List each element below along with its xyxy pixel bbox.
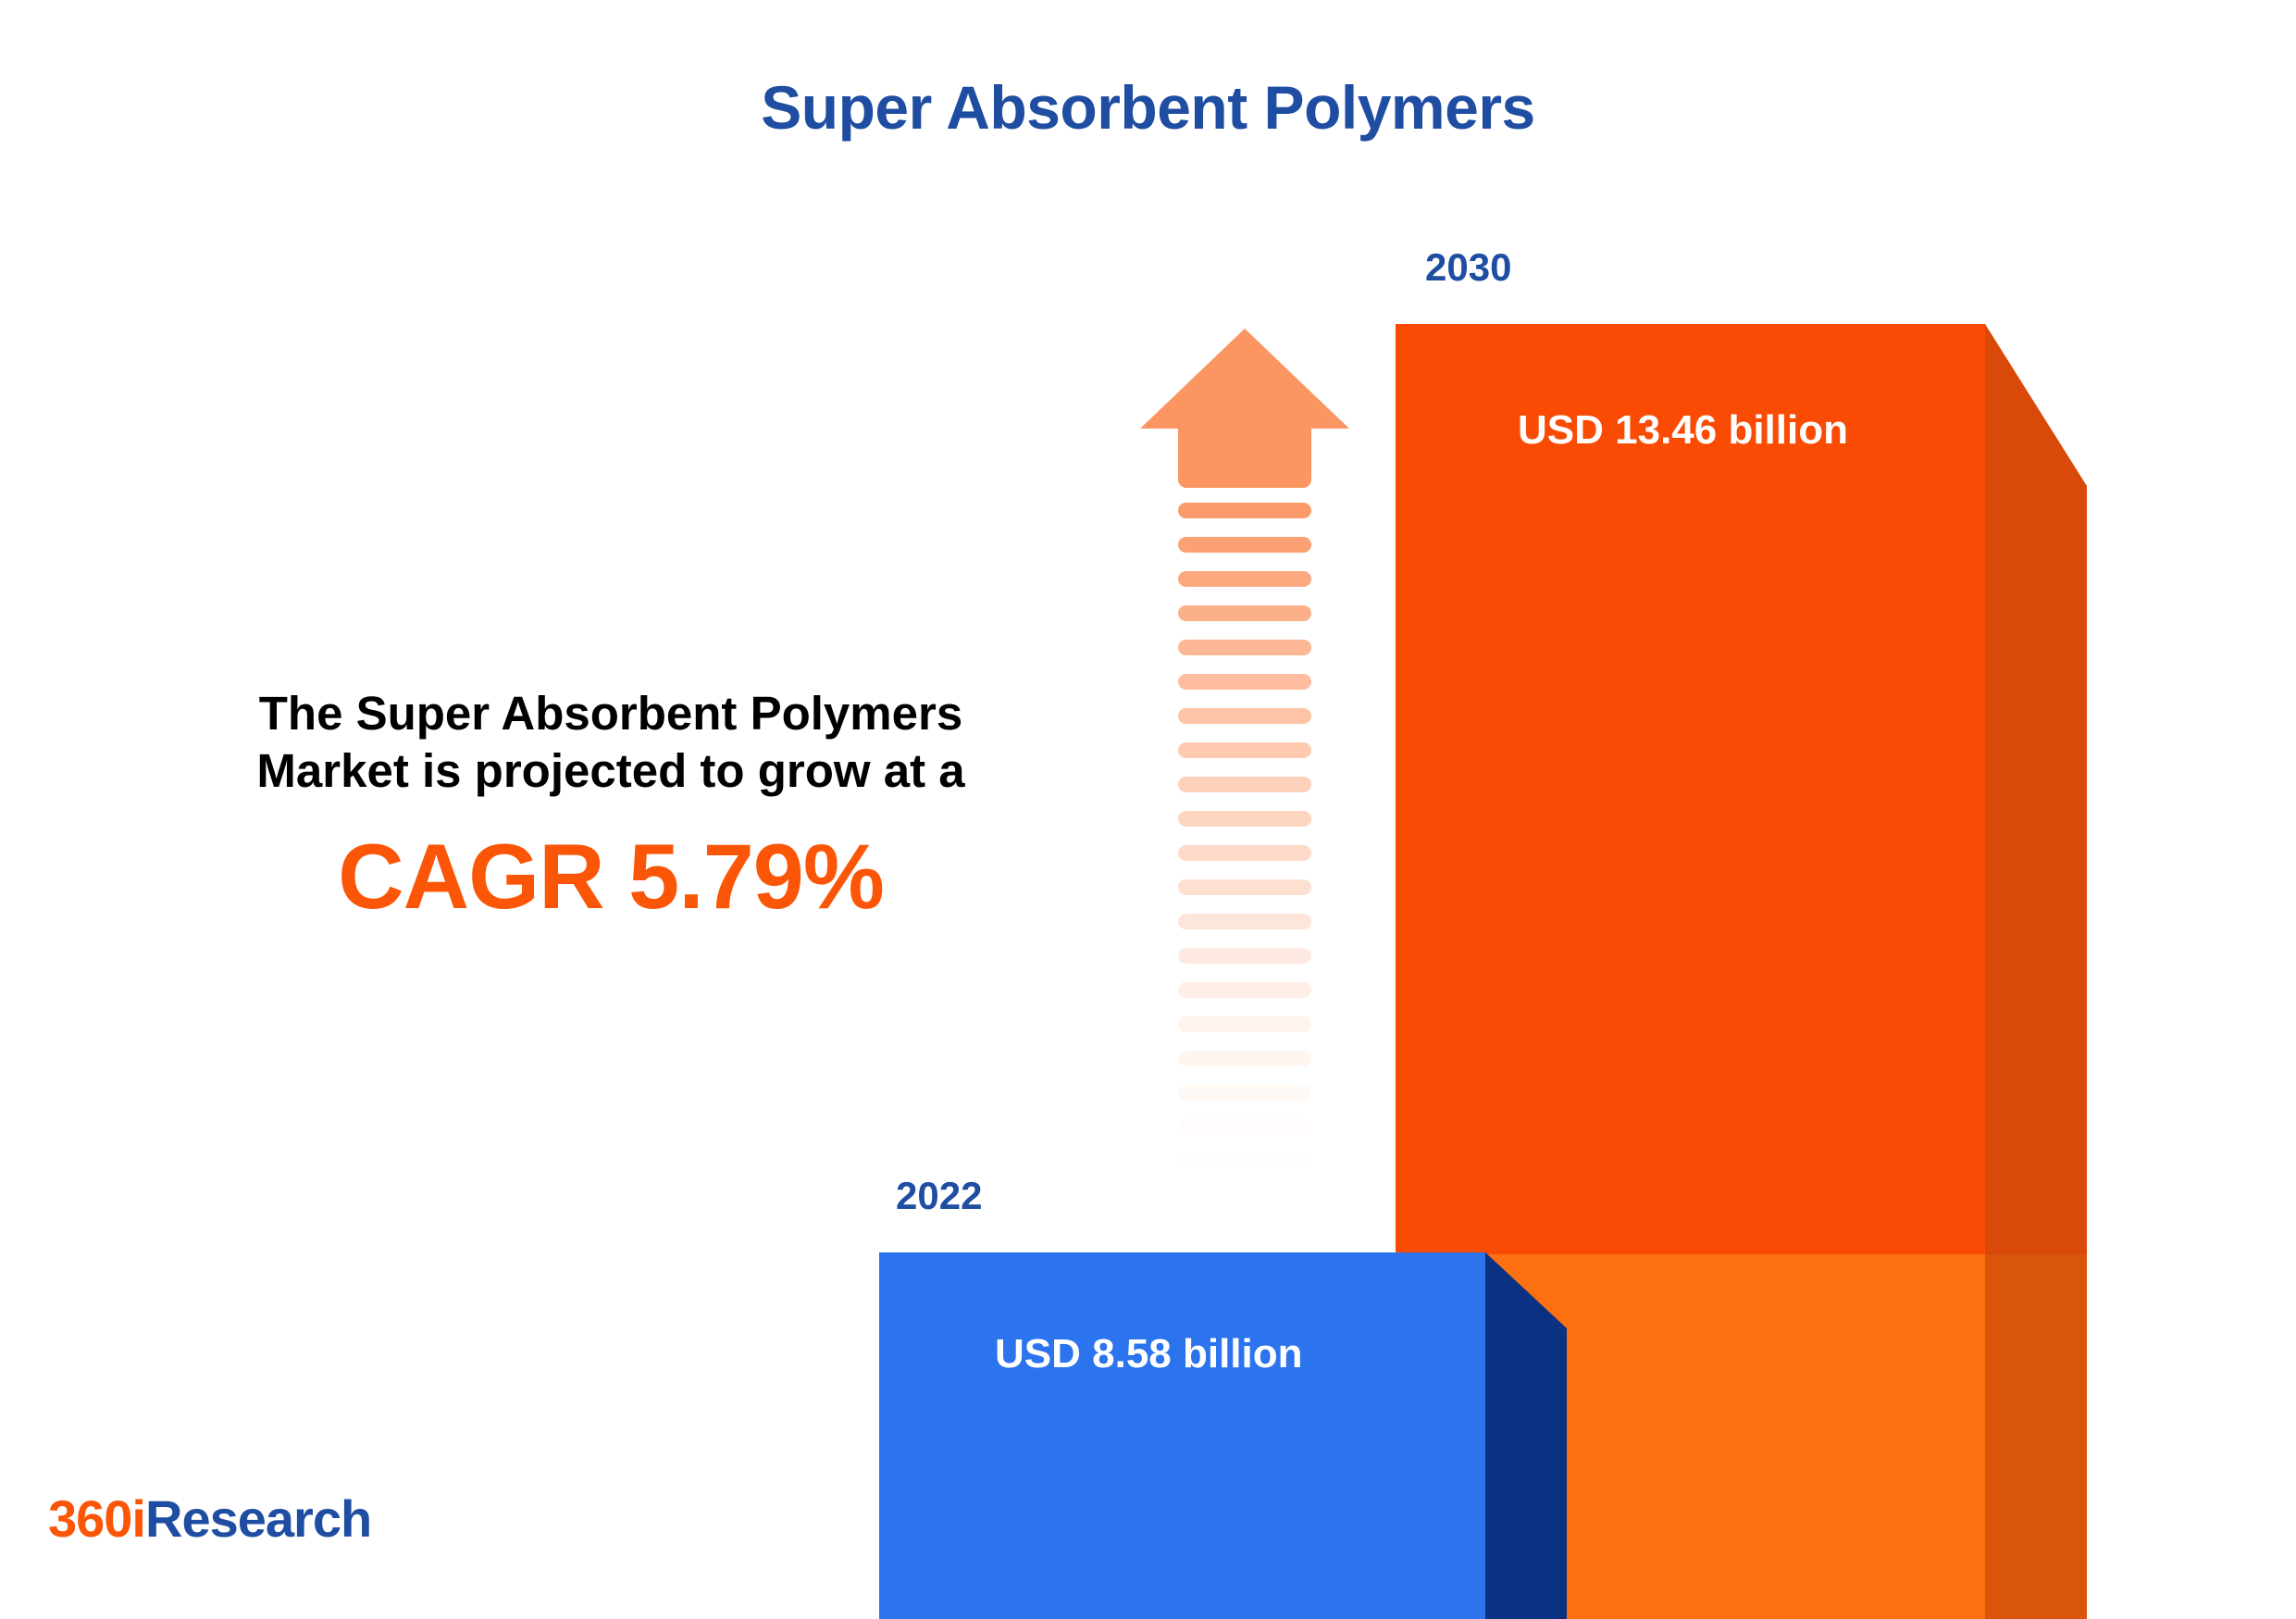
arrow-rung	[1178, 1085, 1311, 1101]
arrow-rung	[1178, 982, 1311, 998]
page-title: Super Absorbent Polymers	[0, 72, 2296, 143]
arrow-shaft	[1178, 425, 1311, 488]
arrow-rung	[1178, 879, 1311, 895]
infographic-canvas: Super Absorbent Polymers The Super Absor…	[0, 0, 2296, 1619]
bar-2022-front-face	[879, 1252, 1485, 1619]
market-statement-line-2: Market is projected to grow at a	[111, 742, 1111, 800]
arrow-rung	[1178, 605, 1311, 621]
upward-growth-arrow-icon	[1140, 329, 1349, 1189]
arrow-rung	[1178, 640, 1311, 655]
year-label-2030: 2030	[1425, 245, 1511, 290]
arrow-rung	[1178, 537, 1311, 553]
arrow-rung	[1178, 1153, 1311, 1169]
arrow-rung	[1178, 948, 1311, 964]
bar-value-2022: USD 8.58 billion	[995, 1331, 1303, 1377]
cagr-value: CAGR 5.79%	[111, 824, 1111, 929]
arrow-rung	[1178, 914, 1311, 929]
arrow-rung	[1178, 1051, 1311, 1066]
arrow-rung	[1178, 1119, 1311, 1135]
arrow-head-icon	[1140, 329, 1349, 429]
logo-360i-text: 360i	[48, 1489, 145, 1548]
arrow-rung	[1178, 1016, 1311, 1032]
year-label-2022: 2022	[896, 1174, 982, 1218]
arrow-rung	[1178, 845, 1311, 861]
market-statement-line-1: The Super Absorbent Polymers	[111, 685, 1111, 742]
bar-2030-side-face-lower	[1985, 1254, 2087, 1619]
arrow-rung	[1178, 571, 1311, 587]
arrow-rung	[1178, 742, 1311, 758]
arrow-rung	[1178, 674, 1311, 690]
market-statement: The Super Absorbent Polymers Market is p…	[111, 685, 1111, 800]
arrow-rung	[1178, 811, 1311, 827]
logo-research-text: Research	[145, 1489, 371, 1548]
arrow-rung	[1178, 708, 1311, 724]
brand-logo[interactable]: 360iResearch	[48, 1488, 371, 1549]
bar-2022-side-face	[1485, 1252, 1567, 1619]
arrow-rung	[1178, 777, 1311, 792]
bar-2022	[879, 1252, 1567, 1619]
bar-value-2030: USD 13.46 billion	[1518, 407, 1848, 454]
arrow-rung	[1178, 503, 1311, 518]
